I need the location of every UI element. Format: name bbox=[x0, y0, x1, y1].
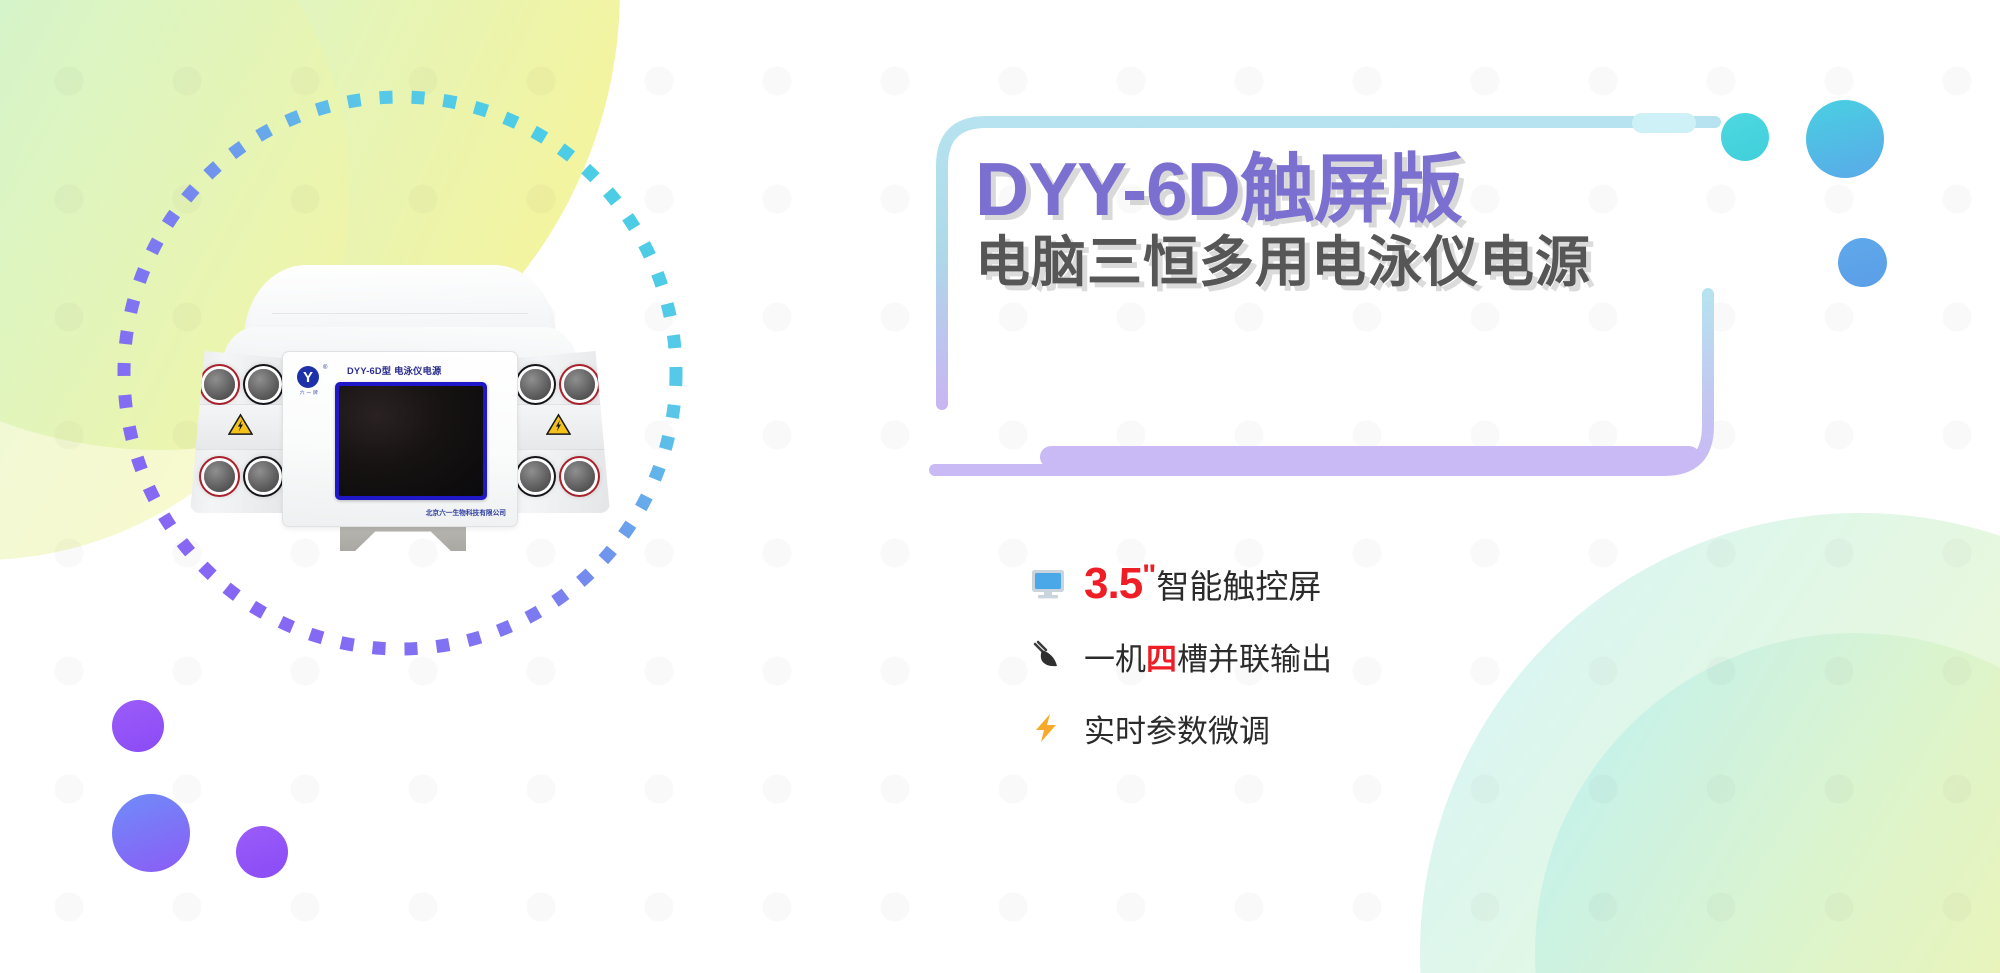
output-port-black-bottom-right bbox=[520, 461, 551, 492]
accent-dot-purple-small bbox=[236, 826, 288, 878]
feature-text-screen: 3.5 " 智能触控屏 bbox=[1084, 559, 1321, 609]
product-title-main: DYY-6D触屏版 bbox=[975, 150, 1795, 230]
high-voltage-warning-icon-right bbox=[546, 413, 571, 436]
screen-size-value: 3.5 bbox=[1084, 559, 1142, 609]
accent-dot-purple-large bbox=[112, 794, 190, 872]
accent-dot-purple-top bbox=[112, 700, 164, 752]
screen-size-unit: " bbox=[1142, 559, 1156, 593]
touchscreen-display bbox=[339, 386, 483, 496]
banner-canvas: Y ® 六 一 牌 DYY-6D型 电泳仪电源 北京六一生物科技有限公司 bbox=[0, 0, 2000, 973]
feature-text-realtime: 实时参数微调 bbox=[1084, 706, 1270, 751]
output-port-red-top-left bbox=[204, 369, 235, 400]
accent-dot-cyan-large bbox=[1806, 100, 1884, 178]
output-slot-count: 四 bbox=[1146, 634, 1177, 679]
panel-model-label: DYY-6D型 电泳仪电源 bbox=[347, 363, 442, 377]
screen-feature-label: 智能触控屏 bbox=[1156, 560, 1321, 608]
output-port-black-top-left bbox=[248, 369, 279, 400]
feature-item-output: 一机 四 槽并联输出 bbox=[1030, 620, 1730, 692]
device-left-wing bbox=[190, 351, 294, 513]
power-plug-icon bbox=[1030, 640, 1084, 672]
device-front-panel: Y ® 六 一 牌 DYY-6D型 电泳仪电源 北京六一生物科技有限公司 bbox=[282, 351, 518, 527]
feature-item-screen: 3.5 " 智能触控屏 bbox=[1030, 548, 1730, 620]
feature-list: 3.5 " 智能触控屏 一机 四 槽并联输出 bbox=[1030, 548, 1730, 764]
output-port-red-top-right bbox=[564, 369, 595, 400]
product-photo-dyy-6d: Y ® 六 一 牌 DYY-6D型 电泳仪电源 北京六一生物科技有限公司 bbox=[190, 265, 610, 535]
manufacturer-logo-icon: Y bbox=[297, 366, 319, 388]
title-block: DYY-6D触屏版 电脑三恒多用电泳仪电源 bbox=[975, 150, 1795, 293]
output-port-black-bottom-left bbox=[248, 461, 279, 492]
lightning-bolt-icon bbox=[1030, 712, 1084, 744]
high-voltage-warning-icon-left bbox=[228, 413, 253, 436]
output-port-red-bottom-left bbox=[204, 461, 235, 492]
output-label-before: 一机 bbox=[1084, 634, 1146, 679]
output-label-after: 槽并联输出 bbox=[1177, 634, 1332, 679]
accent-dot-blue bbox=[1838, 238, 1887, 287]
feature-item-realtime: 实时参数微调 bbox=[1030, 692, 1730, 764]
output-port-red-bottom-right bbox=[564, 461, 595, 492]
output-port-black-top-right bbox=[520, 369, 551, 400]
logo-subtext: 六 一 牌 bbox=[292, 390, 326, 396]
device-right-wing bbox=[506, 351, 610, 513]
title-divider-bar bbox=[1040, 446, 1700, 468]
registered-trademark-mark: ® bbox=[323, 365, 327, 371]
monitor-icon bbox=[1030, 568, 1084, 600]
touchscreen-bezel bbox=[335, 382, 487, 500]
panel-manufacturer-label: 北京六一生物科技有限公司 bbox=[426, 507, 506, 517]
product-title-sub: 电脑三恒多用电泳仪电源 bbox=[975, 232, 1795, 294]
accent-pill-cyan bbox=[1632, 113, 1696, 133]
accent-dot-cyan-small bbox=[1721, 113, 1769, 161]
feature-text-output: 一机 四 槽并联输出 bbox=[1084, 634, 1332, 679]
